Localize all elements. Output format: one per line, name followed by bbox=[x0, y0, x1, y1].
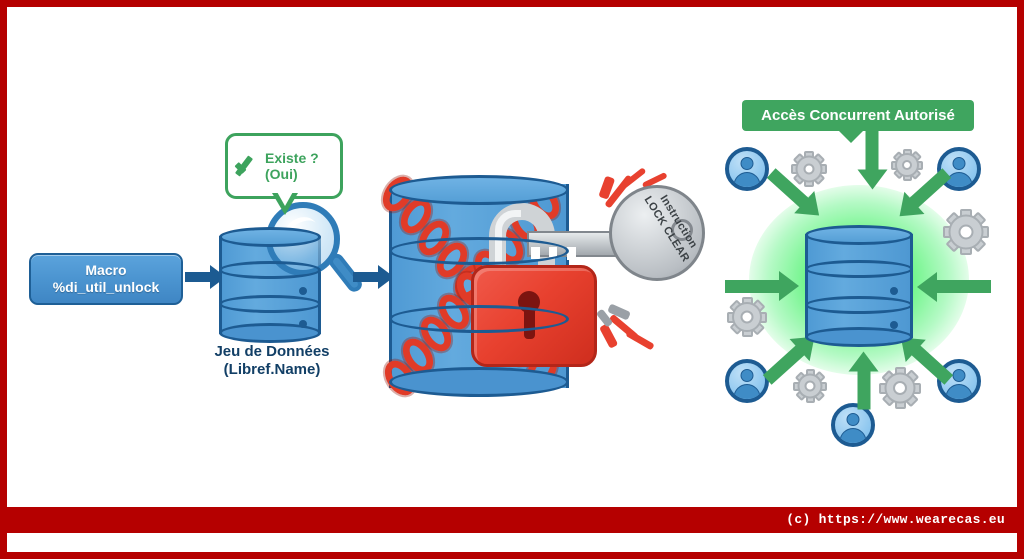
diagram-frame: Macro %di_util_unlock Existe ? (Oui) bbox=[0, 0, 1024, 559]
footer-bar: (c) https://www.wearecas.eu bbox=[7, 507, 1017, 533]
exists-callout-bubble: Existe ? (Oui) bbox=[225, 133, 343, 199]
impact-line bbox=[599, 323, 618, 348]
arrow-inward-icon-left bbox=[725, 271, 797, 302]
arrow-inward-icon-top bbox=[857, 128, 888, 190]
arrow-right-icon-2 bbox=[353, 272, 379, 282]
dataset-label: Jeu de Données (Libref.Name) bbox=[192, 343, 352, 380]
exists-callout-label: Existe ? (Oui) bbox=[263, 150, 340, 182]
arrow-right-icon-1 bbox=[185, 272, 211, 282]
gear-icon bbox=[727, 297, 767, 337]
arrow-inward-icon-right bbox=[919, 271, 991, 302]
gear-icon bbox=[879, 367, 921, 409]
concurrent-access-banner: Accès Concurrent Autorisé bbox=[742, 100, 974, 131]
concurrent-access-label: Accès Concurrent Autorisé bbox=[761, 107, 955, 124]
macro-box-label: Macro %di_util_unlock bbox=[53, 262, 160, 297]
magnifying-glass-icon bbox=[266, 202, 361, 307]
macro-box[interactable]: Macro %di_util_unlock bbox=[29, 253, 183, 305]
user-avatar-icon bbox=[831, 403, 875, 447]
impact-line bbox=[625, 329, 654, 350]
diagram-canvas: Macro %di_util_unlock Existe ? (Oui) bbox=[7, 7, 1017, 533]
unlocked-database-icon bbox=[805, 225, 913, 347]
footer-url: (c) https://www.wearecas.eu bbox=[786, 512, 1005, 527]
gear-icon bbox=[943, 209, 989, 255]
check-icon bbox=[233, 153, 263, 179]
gear-icon bbox=[793, 369, 827, 403]
arrow-inward-icon-bottom bbox=[849, 352, 880, 410]
